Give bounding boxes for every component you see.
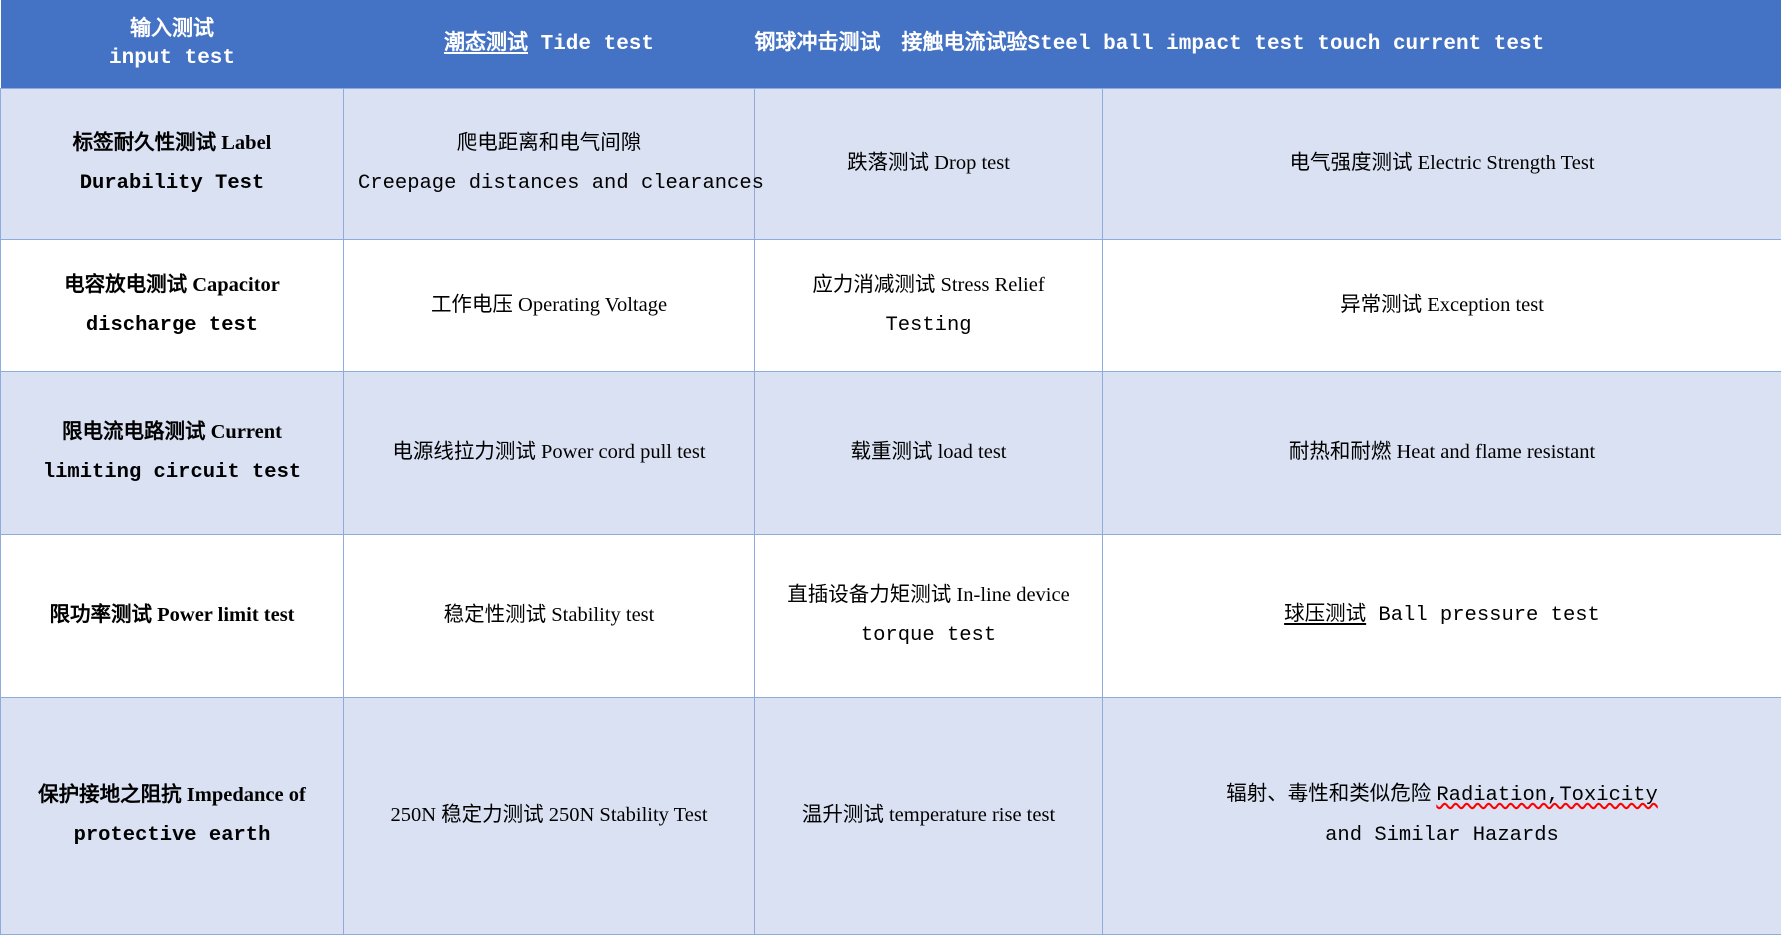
- cell-line: 工作电压 Operating Voltage: [358, 286, 740, 326]
- cell-r1c2: 爬电距离和电气间隙 Creepage distances and clearan…: [344, 88, 755, 239]
- cell-line: 异常测试 Exception test: [1117, 286, 1767, 326]
- cell-line: 跌落测试 Drop test: [769, 144, 1088, 184]
- cell-line: 电源线拉力测试 Power cord pull test: [358, 433, 740, 473]
- cell-r5c2: 250N 稳定力测试 250N Stability Test: [344, 697, 755, 934]
- cell-r5c1: 保护接地之阻抗 Impedance of protective earth: [1, 697, 344, 934]
- cell-r2c1: 电容放电测试 Capacitor discharge test: [1, 239, 344, 371]
- cell-r2c3: 应力消减测试 Stress Relief Testing: [755, 239, 1103, 371]
- cell-line: torque test: [769, 616, 1088, 656]
- cell-r5c4-radiation-toxicity: 辐射、毒性和类似危险 Radiation,Toxicity and Simila…: [1103, 697, 1781, 934]
- ball-pressure-latin: Ball pressure test: [1366, 604, 1600, 627]
- cell-r4c4-ball-pressure-test: 球压测试 Ball pressure test: [1103, 534, 1781, 697]
- cell-line: 电气强度测试 Electric Strength Test: [1117, 144, 1767, 184]
- radiation-prefix-cjk: 辐射、毒性和类似危险: [1226, 783, 1436, 805]
- header-cell-input-test: 输入测试 input test: [1, 0, 344, 88]
- cell-r3c1: 限电流电路测试 Current limiting circuit test: [1, 372, 344, 535]
- cell-line: 限电流电路测试 Current: [15, 413, 329, 453]
- cell-line: 爬电距离和电气间隙: [358, 124, 740, 164]
- ball-pressure-cjk: 球压测试: [1284, 603, 1366, 625]
- cell-line: 稳定性测试 Stability test: [358, 596, 740, 636]
- cell-r3c2: 电源线拉力测试 Power cord pull test: [344, 372, 755, 535]
- cell-line: 载重测试 load test: [769, 433, 1088, 473]
- cell-line: 保护接地之阻抗 Impedance of: [15, 776, 329, 816]
- cell-r4c2: 稳定性测试 Stability test: [344, 534, 755, 697]
- table-row: 电容放电测试 Capacitor discharge test 工作电压 Ope…: [1, 239, 1781, 371]
- cell-line: 直插设备力矩测试 In-line device: [769, 576, 1088, 616]
- cell-line: discharge test: [15, 306, 329, 346]
- cell-line: Durability Test: [15, 164, 329, 204]
- header-row: 输入测试 input test 潮态测试 Tide test 钢球冲击测试 接触…: [1, 0, 1781, 88]
- table-row: 保护接地之阻抗 Impedance of protective earth 25…: [1, 697, 1781, 934]
- header-steel-ball-cjk: 钢球冲击测试 接触电流试验: [755, 30, 1028, 54]
- spell-error-radiation-toxicity: Radiation,Toxicity: [1436, 784, 1657, 807]
- cell-line: Creepage distances and clearances: [358, 164, 740, 204]
- cell-line: 250N 稳定力测试 250N Stability Test: [358, 796, 740, 836]
- table-row: 限电流电路测试 Current limiting circuit test 电源…: [1, 372, 1781, 535]
- cell-r1c3: 跌落测试 Drop test: [755, 88, 1103, 239]
- cell-line: limiting circuit test: [15, 453, 329, 493]
- cell-line: 温升测试 temperature rise test: [769, 796, 1088, 836]
- cell-r2c2: 工作电压 Operating Voltage: [344, 239, 755, 371]
- table-row: 限功率测试 Power limit test 稳定性测试 Stability t…: [1, 534, 1781, 697]
- header-tide-test-latin: Tide test: [528, 33, 654, 56]
- header-tide-test-cjk: 潮态测试: [444, 30, 528, 54]
- test-items-table: 输入测试 input test 潮态测试 Tide test 钢球冲击测试 接触…: [0, 0, 1781, 935]
- cell-r2c4: 异常测试 Exception test: [1103, 239, 1781, 371]
- cell-r5c3: 温升测试 temperature rise test: [755, 697, 1103, 934]
- cell-r1c4: 电气强度测试 Electric Strength Test: [1103, 88, 1781, 239]
- cell-line: Testing: [769, 306, 1088, 346]
- cell-line: 电容放电测试 Capacitor: [15, 266, 329, 306]
- cell-r3c4: 耐热和耐燃 Heat and flame resistant: [1103, 372, 1781, 535]
- header-steel-ball-latin: Steel ball impact test touch current tes…: [1028, 33, 1545, 56]
- cell-r1c1: 标签耐久性测试 Label Durability Test: [1, 88, 344, 239]
- table-row: 标签耐久性测试 Label Durability Test 爬电距离和电气间隙 …: [1, 88, 1781, 239]
- cell-line: and Similar Hazards: [1117, 816, 1767, 856]
- cell-r3c3: 载重测试 load test: [755, 372, 1103, 535]
- table-body: 标签耐久性测试 Label Durability Test 爬电距离和电气间隙 …: [1, 88, 1781, 935]
- cell-r4c3: 直插设备力矩测试 In-line device torque test: [755, 534, 1103, 697]
- header-cell-steel-ball-touch-current: 钢球冲击测试 接触电流试验Steel ball impact test touc…: [755, 0, 1781, 88]
- cell-line: 应力消减测试 Stress Relief: [769, 266, 1088, 306]
- header-input-test-cjk: 输入测试: [7, 14, 338, 44]
- header-cell-tide-test: 潮态测试 Tide test: [344, 0, 755, 88]
- cell-line: 标签耐久性测试 Label: [15, 124, 329, 164]
- cell-line: 限功率测试 Power limit test: [15, 596, 329, 636]
- table-header: 输入测试 input test 潮态测试 Tide test 钢球冲击测试 接触…: [1, 0, 1781, 88]
- cell-line: protective earth: [15, 816, 329, 856]
- cell-r4c1: 限功率测试 Power limit test: [1, 534, 344, 697]
- header-input-test-latin: input test: [7, 44, 338, 74]
- cell-line: 耐热和耐燃 Heat and flame resistant: [1117, 433, 1767, 473]
